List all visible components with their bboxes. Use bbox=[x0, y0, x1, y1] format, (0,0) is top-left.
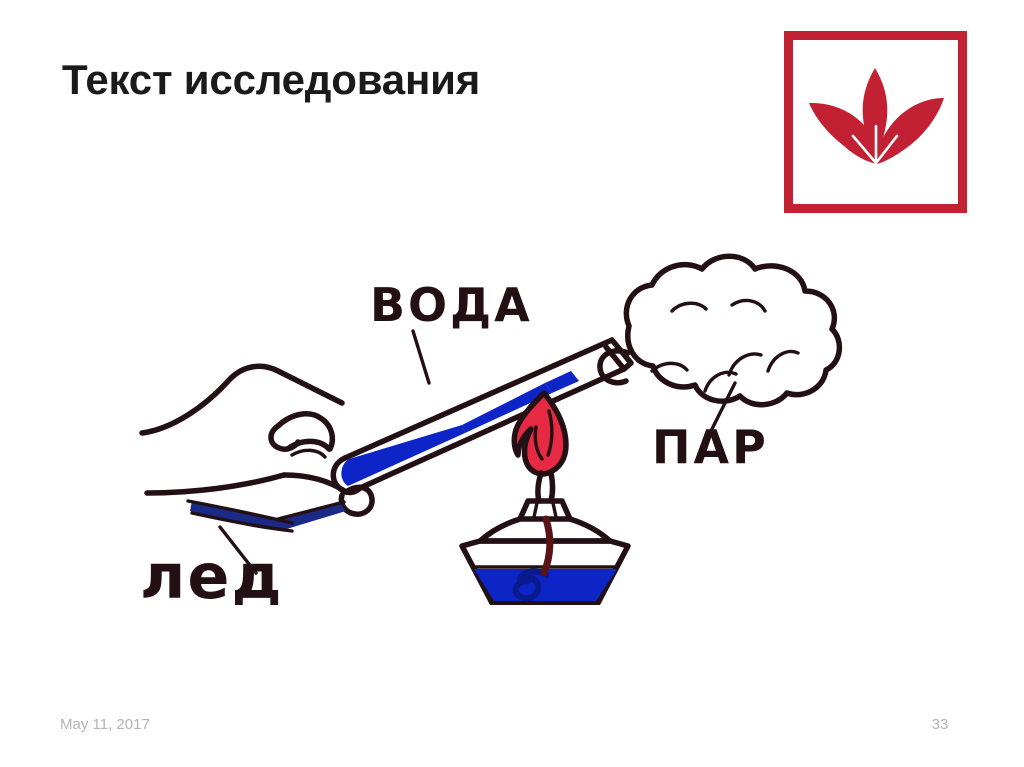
label-steam-text: ПАР bbox=[652, 420, 769, 474]
page-title: Текст исследования bbox=[62, 58, 480, 102]
label-ice-text: лед bbox=[140, 540, 284, 605]
label-water: ВОДА bbox=[370, 278, 533, 383]
label-water-text: ВОДА bbox=[370, 278, 533, 332]
water-states-illustration: ВОДА ПАР bbox=[132, 243, 854, 605]
leaf-logo-graphic bbox=[793, 40, 958, 204]
test-tube bbox=[333, 340, 631, 492]
footer-page-number: 33 bbox=[915, 716, 965, 733]
label-ice: лед bbox=[140, 540, 284, 605]
flame-icon bbox=[514, 393, 566, 501]
leaf-plant-logo bbox=[784, 31, 967, 213]
slide-canvas: Текст исследования bbox=[0, 0, 1024, 767]
steam-cloud-icon bbox=[600, 256, 839, 404]
hand bbox=[142, 366, 372, 514]
spirit-burner bbox=[462, 501, 628, 603]
footer-date: May 11, 2017 bbox=[60, 716, 150, 733]
